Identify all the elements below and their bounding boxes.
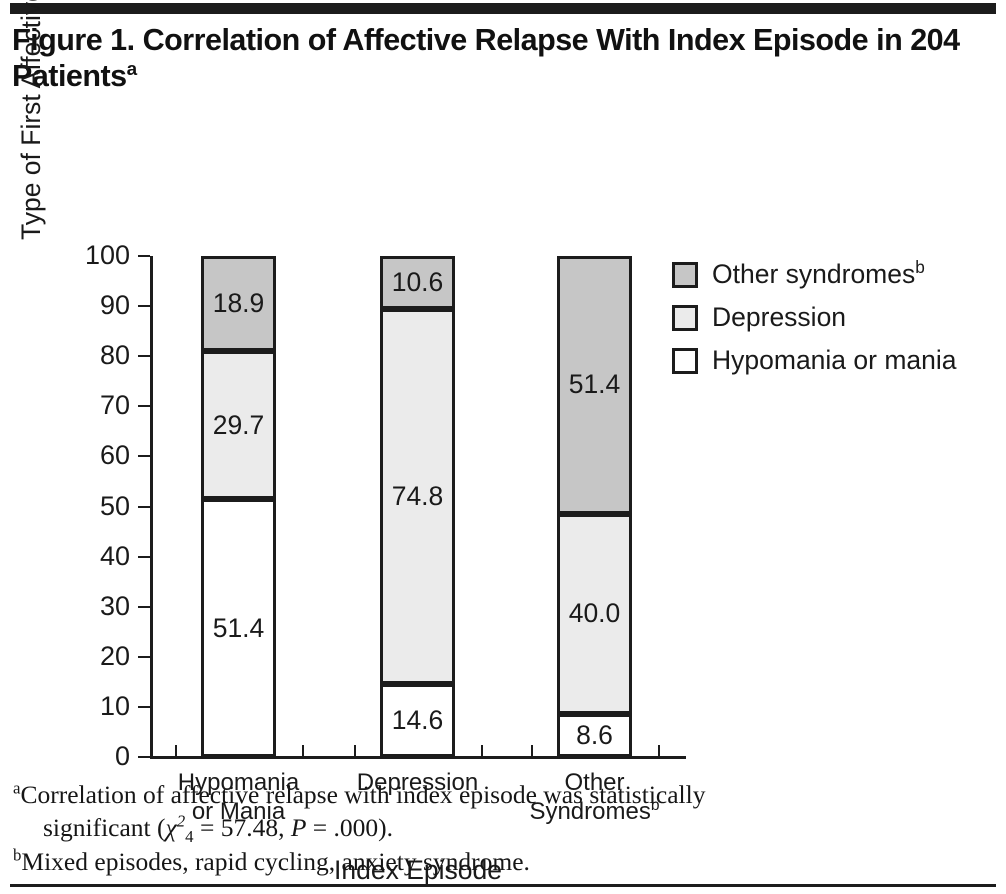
chi-square-symbol: χ24 xyxy=(166,813,194,842)
bar-segment-value-label: 51.4 xyxy=(569,369,621,400)
y-axis-tick-label: 100 xyxy=(60,242,130,269)
y-axis-tick xyxy=(138,756,150,758)
top-rule xyxy=(10,3,996,14)
figure-title-footnote-marker: a xyxy=(127,59,137,80)
y-axis-tick xyxy=(138,706,150,708)
footnote-b-line: Mixed episodes, rapid cycling, anxiety s… xyxy=(21,847,529,876)
legend-item: Depression xyxy=(672,300,957,341)
legend-swatch xyxy=(672,305,698,331)
bar-segment-value-label: 8.6 xyxy=(576,720,613,751)
legend-item: Hypomania or mania xyxy=(672,343,957,384)
y-axis-tick-label: 60 xyxy=(60,442,130,469)
legend-footnote-marker: b xyxy=(915,257,925,277)
x-axis-tick xyxy=(658,745,660,756)
chi-df: 4 xyxy=(185,827,193,846)
legend-label: Hypomania or mania xyxy=(712,343,957,377)
footnote-a-line2-post: = .000). xyxy=(306,813,393,842)
chart-canvas: Type of First Affective Relapse (%) 0102… xyxy=(0,120,1006,770)
bar-segment-value-label: 51.4 xyxy=(213,613,265,644)
bar-segment-value-label: 14.6 xyxy=(392,705,444,736)
bar-segment: 8.6 xyxy=(557,714,632,757)
bar-segment-value-label: 29.7 xyxy=(213,410,265,441)
bottom-rule xyxy=(10,884,996,887)
x-axis-tick xyxy=(302,745,304,756)
bar-segment: 14.6 xyxy=(380,684,455,757)
y-axis-tick-label: 90 xyxy=(60,292,130,319)
footnote-b: bMixed episodes, rapid cycling, anxiety … xyxy=(13,845,993,878)
stacked-bar: 14.674.810.6 xyxy=(380,256,455,757)
bar-segment-value-label: 74.8 xyxy=(392,481,444,512)
y-axis-tick xyxy=(138,556,150,558)
bar-segment: 29.7 xyxy=(201,351,276,500)
bar-segment-value-label: 18.9 xyxy=(213,288,265,319)
bar-segment: 40.0 xyxy=(557,514,632,714)
bar-segment-value-label: 10.6 xyxy=(392,267,444,298)
legend-label: Depression xyxy=(712,300,846,334)
figure-title: Figure 1. Correlation of Affective Relap… xyxy=(12,22,972,94)
footnote-a-line2: significant (χ24 = 57.48, P = .000). xyxy=(13,811,993,844)
y-axis-tick xyxy=(138,255,150,257)
y-axis-title: Type of First Affective Relapse (%) xyxy=(16,0,46,287)
y-axis-tick xyxy=(138,405,150,407)
footnote-a: aCorrelation of affective relapse with i… xyxy=(13,778,993,844)
chart-legend: Other syndromesbDepressionHypomania or m… xyxy=(672,257,957,386)
x-axis-tick xyxy=(354,745,356,756)
y-axis-tick-label: 10 xyxy=(60,693,130,720)
x-axis-tick xyxy=(531,745,533,756)
stacked-bar: 51.429.718.9 xyxy=(201,256,276,757)
y-axis-tick xyxy=(138,355,150,357)
stacked-bar: 8.640.051.4 xyxy=(557,256,632,757)
y-axis-tick-label: 70 xyxy=(60,392,130,419)
footnote-a-line2-mid: = 57.48, xyxy=(194,813,291,842)
x-axis-tick xyxy=(175,745,177,756)
y-axis-tick xyxy=(138,455,150,457)
p-value-symbol: P xyxy=(291,813,307,842)
y-axis-line xyxy=(150,256,153,758)
chi-glyph: χ xyxy=(166,813,177,842)
figure-title-text: Figure 1. Correlation of Affective Relap… xyxy=(12,23,960,93)
chi-exponent: 2 xyxy=(177,812,185,831)
legend-swatch xyxy=(672,348,698,374)
y-axis-tick-label: 30 xyxy=(60,593,130,620)
legend-item: Other syndromesb xyxy=(672,257,957,298)
y-axis-title-text: Type of First Affective Relapse (%) xyxy=(16,0,46,287)
bar-segment: 51.4 xyxy=(201,499,276,757)
legend-swatch xyxy=(672,262,698,288)
legend-label: Other syndromesb xyxy=(712,257,925,291)
bar-segment: 10.6 xyxy=(380,256,455,309)
y-axis-tick-label: 0 xyxy=(60,743,130,770)
bar-segment: 74.8 xyxy=(380,309,455,684)
bar-segment: 18.9 xyxy=(201,256,276,351)
y-axis-tick xyxy=(138,656,150,658)
footnote-a-line1: Correlation of affective relapse with in… xyxy=(20,780,705,809)
footnotes: aCorrelation of affective relapse with i… xyxy=(13,778,993,879)
y-axis-tick xyxy=(138,606,150,608)
bar-segment-value-label: 40.0 xyxy=(569,598,621,629)
y-axis-tick-label: 20 xyxy=(60,643,130,670)
y-axis-tick xyxy=(138,305,150,307)
bar-segment: 51.4 xyxy=(557,256,632,514)
footnote-a-line2-pre: significant ( xyxy=(43,813,166,842)
y-axis-tick xyxy=(138,506,150,508)
x-axis-tick xyxy=(481,745,483,756)
y-axis-tick-label: 80 xyxy=(60,342,130,369)
y-axis-tick-label: 50 xyxy=(60,493,130,520)
y-axis-tick-label: 40 xyxy=(60,543,130,570)
